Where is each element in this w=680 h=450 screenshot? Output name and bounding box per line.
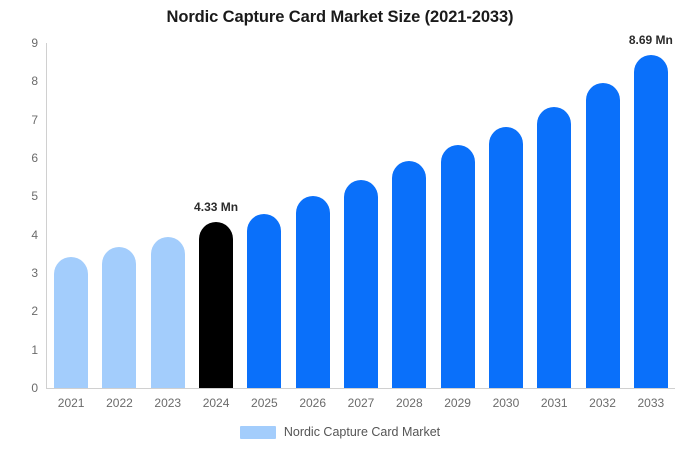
bar-column[interactable]: 8.69 Mn bbox=[634, 43, 668, 388]
bar-2029[interactable] bbox=[441, 145, 475, 388]
y-tick-2: 2 bbox=[8, 304, 38, 318]
y-tick-5: 5 bbox=[8, 189, 38, 203]
bar-2022[interactable] bbox=[102, 247, 136, 388]
bar-column[interactable] bbox=[151, 43, 185, 388]
bar-column[interactable] bbox=[296, 43, 330, 388]
y-tick-3: 3 bbox=[8, 266, 38, 280]
y-tick-7: 7 bbox=[8, 113, 38, 127]
plot-area: 4.33 Mn8.69 Mn bbox=[47, 43, 675, 388]
bar-column[interactable] bbox=[489, 43, 523, 388]
bar-column[interactable] bbox=[344, 43, 378, 388]
y-tick-4: 4 bbox=[8, 228, 38, 242]
bar-value-label-2024: 4.33 Mn bbox=[194, 200, 238, 214]
chart-legend: Nordic Capture Card Market bbox=[0, 425, 680, 439]
bar-2033[interactable] bbox=[634, 55, 668, 388]
x-tick-2033: 2033 bbox=[621, 396, 680, 410]
y-tick-0: 0 bbox=[8, 381, 38, 395]
bar-2030[interactable] bbox=[489, 127, 523, 388]
bar-2024[interactable] bbox=[199, 222, 233, 388]
bar-column[interactable] bbox=[586, 43, 620, 388]
bar-2032[interactable] bbox=[586, 83, 620, 388]
bar-2026[interactable] bbox=[296, 196, 330, 388]
bar-column[interactable] bbox=[537, 43, 571, 388]
bar-column[interactable] bbox=[247, 43, 281, 388]
bar-2027[interactable] bbox=[344, 180, 378, 388]
y-tick-9: 9 bbox=[8, 36, 38, 50]
legend-label-nordic-capture-card-market: Nordic Capture Card Market bbox=[284, 425, 440, 439]
bar-2023[interactable] bbox=[151, 237, 185, 388]
bar-column[interactable] bbox=[54, 43, 88, 388]
x-axis-line bbox=[46, 388, 675, 389]
bar-column[interactable]: 4.33 Mn bbox=[199, 43, 233, 388]
bar-column[interactable] bbox=[441, 43, 475, 388]
bar-2021[interactable] bbox=[54, 257, 88, 388]
bar-2025[interactable] bbox=[247, 214, 281, 388]
bar-value-label-2033: 8.69 Mn bbox=[629, 33, 673, 47]
bar-2031[interactable] bbox=[537, 107, 571, 388]
legend-swatch-nordic-capture-card-market bbox=[240, 426, 276, 439]
bar-column[interactable] bbox=[392, 43, 426, 388]
bar-column[interactable] bbox=[102, 43, 136, 388]
bar-chart: Nordic Capture Card Market Size (2021-20… bbox=[0, 0, 680, 450]
y-tick-6: 6 bbox=[8, 151, 38, 165]
y-tick-8: 8 bbox=[8, 74, 38, 88]
bar-2028[interactable] bbox=[392, 161, 426, 388]
y-tick-1: 1 bbox=[8, 343, 38, 357]
